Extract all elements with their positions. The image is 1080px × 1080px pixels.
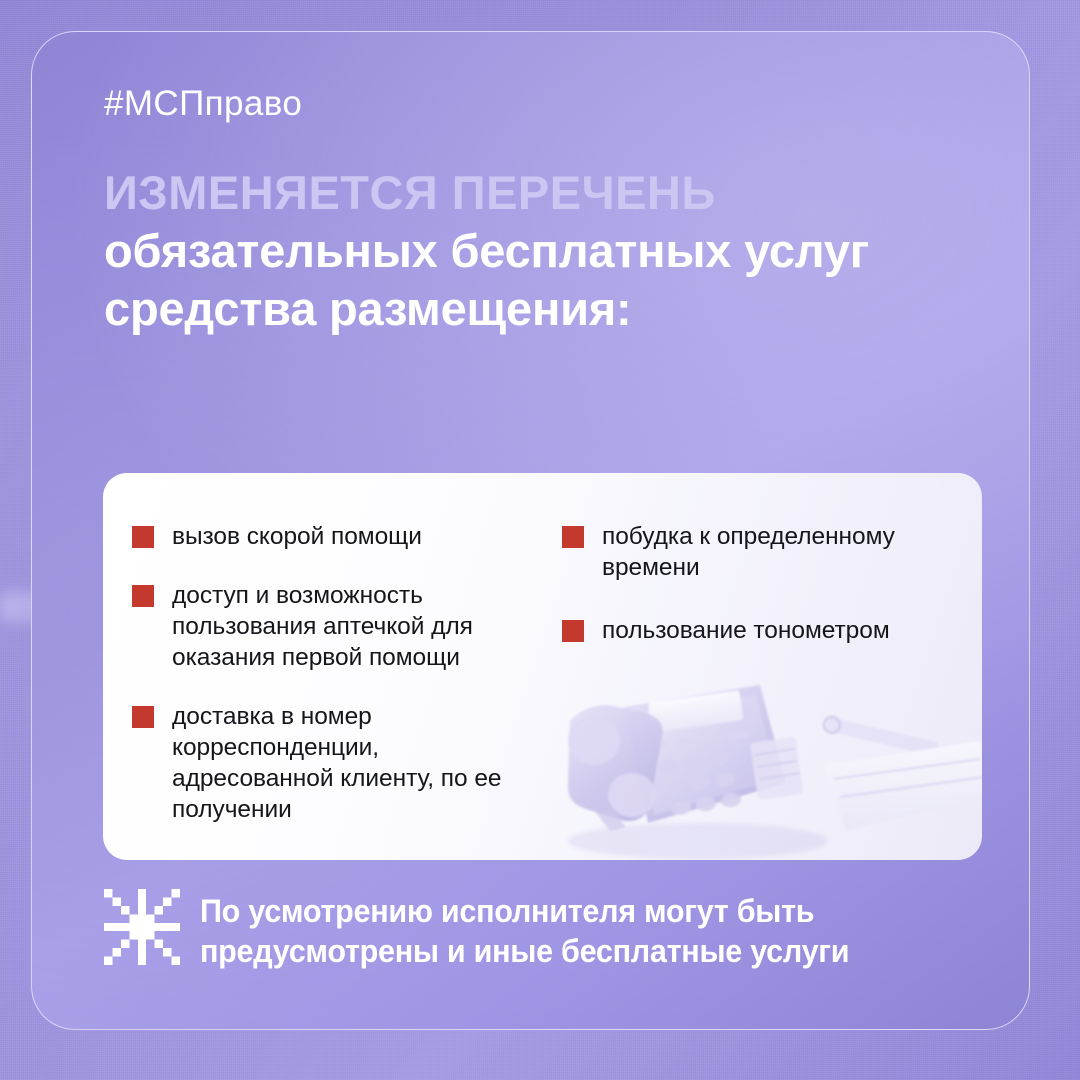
poster-card: #МСПправо ИЗМЕНЯЕТСЯ ПЕРЕЧЕНЬ обязательн… xyxy=(31,31,1030,1030)
page-title: ИЗМЕНЯЕТСЯ ПЕРЕЧЕНЬ обязательных бесплат… xyxy=(104,164,984,338)
list-item: пользование тонометром xyxy=(562,615,954,646)
list-item-label: доступ и возможность пользования аптечко… xyxy=(172,580,543,673)
list-item-label: вызов скорой помощи xyxy=(172,521,422,552)
list-item-label: пользование тонометром xyxy=(602,615,890,646)
red-square-bullet-icon xyxy=(132,706,154,728)
list-item-label: доставка в номер корреспонденции, адресо… xyxy=(172,701,543,825)
list-item: доступ и возможность пользования аптечко… xyxy=(132,580,543,673)
services-list-card: вызов скорой помощи доступ и возможность… xyxy=(103,473,982,860)
services-columns: вызов скорой помощи доступ и возможность… xyxy=(103,473,982,860)
services-column-left: вызов скорой помощи доступ и возможность… xyxy=(132,521,543,860)
red-square-bullet-icon xyxy=(132,526,154,548)
poster-canvas: #МСПправо ИЗМЕНЯЕТСЯ ПЕРЕЧЕНЬ обязательн… xyxy=(0,0,1080,1080)
footer-note: По усмотрению исполнителя могут быть пре… xyxy=(104,887,984,971)
hashtag-label: #МСПправо xyxy=(104,84,302,124)
footer-note-text: По усмотрению исполнителя могут быть пре… xyxy=(200,887,949,971)
headline-accent: ИЗМЕНЯЕТСЯ ПЕРЕЧЕНЬ xyxy=(104,166,716,219)
red-square-bullet-icon xyxy=(132,585,154,607)
red-square-bullet-icon xyxy=(562,620,584,642)
pixel-snowflake-icon xyxy=(104,889,180,965)
red-square-bullet-icon xyxy=(562,526,584,548)
list-item: побудка к определенному времени xyxy=(562,521,954,583)
list-item: доставка в номер корреспонденции, адресо… xyxy=(132,701,543,825)
services-column-right: побудка к определенному времени пользова… xyxy=(543,521,954,860)
list-item-label: побудка к определенному времени xyxy=(602,521,954,583)
list-item: вызов скорой помощи xyxy=(132,521,543,552)
headline-rest: обязательных бесплатных услуг средства р… xyxy=(104,224,869,335)
